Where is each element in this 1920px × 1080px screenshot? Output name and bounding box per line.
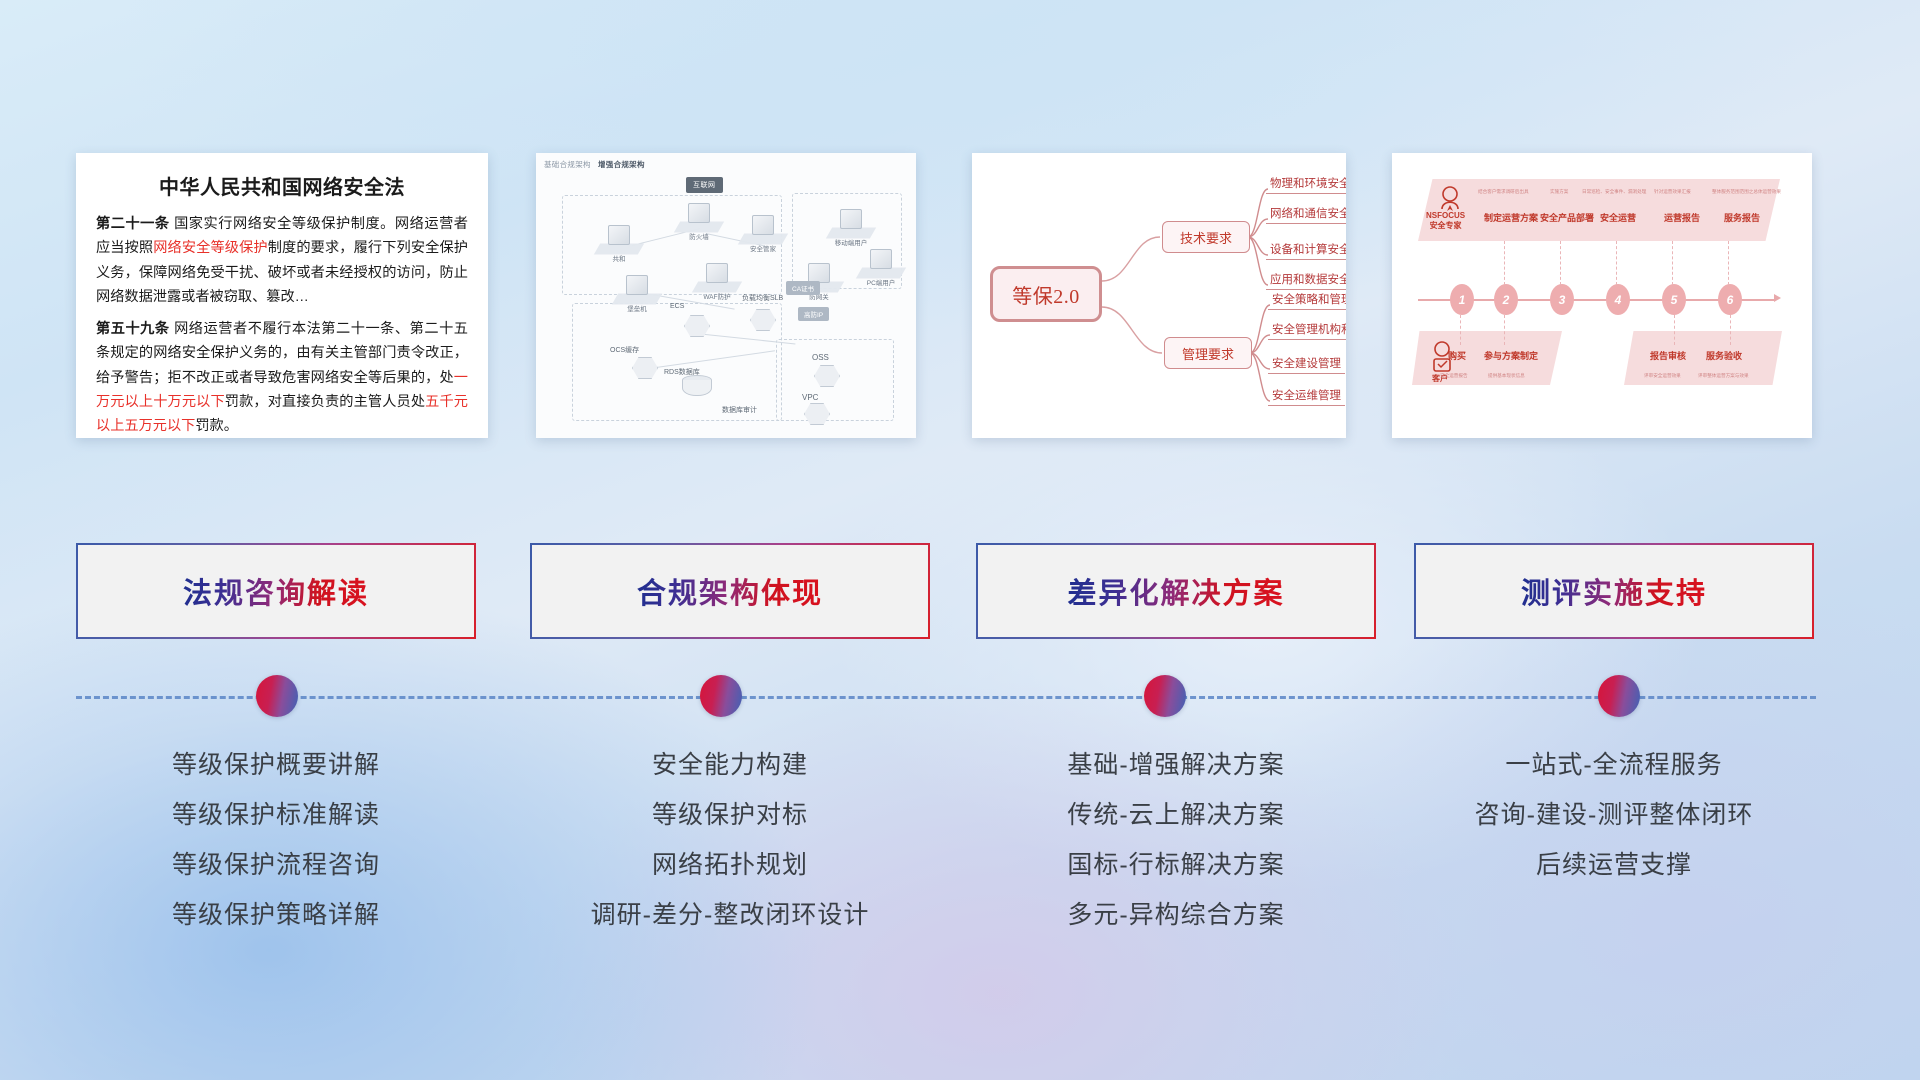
law-text: 罚款，对直接负责的主管人员处 (225, 394, 425, 410)
list-item: 安全能力构建 (530, 740, 930, 790)
mindmap-leaf: 网络和通信安全 (1266, 205, 1346, 224)
process-step-number: 4 (1606, 284, 1630, 315)
process-connector (1616, 241, 1617, 285)
law-article-number-2: 第五十九条 (96, 321, 170, 337)
architecture-node: WAF防护 (702, 263, 732, 289)
list-item: 调研-差分-整改闭环设计 (530, 890, 930, 940)
list-item: 传统-云上解决方案 (976, 790, 1376, 840)
list-item: 后续运营支撑 (1414, 840, 1814, 890)
law-article-number-1: 第二十一条 (96, 216, 170, 232)
mindmap-diagram: 等保2.0 技术要求 管理要求 物理和环境安全 网络和通信安全 设备和计算安全 … (972, 153, 1346, 438)
list-item: 等级保护策略详解 (76, 890, 476, 940)
timeline-connector (0, 675, 1920, 723)
process-top-main: 制定运营方案 (1484, 211, 1538, 224)
law-text-highlight: 网络安全等级保护 (153, 240, 268, 256)
architecture-diagram: 基础合规架构 增强合规架构 互联网 共和 防火墙 安全管家 堡垒机 WAF防护 … (536, 153, 916, 438)
process-bottom-sub: 评审整体运营方案与效果 (1698, 373, 1749, 379)
process-connector (1504, 241, 1505, 285)
law-card-body: 中华人民共和国网络安全法 第二十一条 国家实行网络安全等级保护制度。网络运营者应… (76, 153, 488, 438)
card-service-process[interactable]: NSFOCUS 安全专家 客户 结合客户需求调研后出具 制定运营方案 实施方案 … (1392, 153, 1812, 438)
process-top-sub: 整体服务范围范围之总体运营效果 (1712, 189, 1781, 195)
architecture-node-label: 安全管家 (739, 243, 787, 253)
card-mindmap-dengbao[interactable]: 等保2.0 技术要求 管理要求 物理和环境安全 网络和通信安全 设备和计算安全 … (972, 153, 1346, 438)
preview-cards-row: 中华人民共和国网络安全法 第二十一条 国家实行网络安全等级保护制度。网络运营者应… (0, 153, 1920, 441)
process-connector (1460, 315, 1461, 345)
architecture-node: 安全管家 (748, 215, 778, 241)
process-bottom-sub: 评审安全运营效果 (1644, 373, 1681, 379)
process-bottom-main: 服务验收 (1706, 349, 1742, 362)
architecture-node-label: 共和 (595, 253, 643, 263)
process-top-sub: 实施方案 (1550, 189, 1568, 195)
architecture-node-label: VPC (802, 393, 818, 402)
architecture-node-label: OCS缓存 (610, 345, 639, 355)
process-connector (1730, 315, 1731, 345)
process-connector (1728, 241, 1729, 285)
mindmap-leaf: 物理和环境安全 (1266, 175, 1346, 194)
card-compliance-architecture[interactable]: 基础合规架构 增强合规架构 互联网 共和 防火墙 安全管家 堡垒机 WAF防护 … (536, 153, 916, 438)
mindmap-leaf: 安全建设管理 (1268, 355, 1345, 374)
mindmap-leaf: 安全管理机构和人员 (1268, 321, 1346, 340)
category-button-label: 合规架构体现 (637, 570, 823, 612)
architecture-node-label: 负载均衡SLB (742, 293, 783, 303)
architecture-node-label: 堡垒机 (613, 303, 661, 313)
process-top-main: 安全产品部署 (1540, 211, 1594, 224)
category-button-label: 测评实施支持 (1521, 570, 1707, 612)
process-top-main: 安全运营 (1600, 211, 1636, 224)
mindmap-branch-management: 管理要求 (1164, 337, 1252, 369)
process-bottom-sub: 安全运营报告 (1440, 373, 1468, 379)
list-item: 等级保护标准解读 (76, 790, 476, 840)
law-text: 罚款。 (195, 418, 238, 434)
list-item: 网络拓扑规划 (530, 840, 930, 890)
process-bottom-sub: 提供基本现状信息 (1488, 373, 1525, 379)
detail-list-assessment-support: 一站式-全流程服务 咨询-建设-测评整体闭环 后续运营支撑 (1414, 740, 1814, 890)
timeline-dot-3 (1144, 675, 1186, 717)
process-step-number: 3 (1550, 284, 1574, 315)
process-connector (1504, 315, 1505, 345)
process-step-number: 2 (1494, 284, 1518, 315)
architecture-pill-ca: CA证书 (786, 281, 820, 295)
law-title: 中华人民共和国网络安全法 (96, 171, 468, 200)
architecture-node-label: WAF防护 (693, 291, 741, 301)
architecture-node-label: RDS数据库 (664, 367, 700, 377)
architecture-node: 堡垒机 (622, 275, 652, 301)
architecture-node-label: 数据库审计 (722, 405, 757, 415)
list-item: 多元-异构综合方案 (976, 890, 1376, 940)
category-buttons-row: 法规咨询解读 合规架构体现 差异化解决方案 测评实施支持 (0, 543, 1920, 639)
mindmap-leaf: 安全运维管理 (1268, 387, 1345, 406)
architecture-node: 移动端用户 (836, 209, 866, 235)
process-connector (1674, 315, 1675, 345)
architecture-node: 共和 (604, 225, 634, 251)
law-paragraph-1: 第二十一条 国家实行网络安全等级保护制度。网络运营者应当按照网络安全等级保护制度… (96, 212, 468, 310)
list-item: 等级保护概要讲解 (76, 740, 476, 790)
architecture-caption-bold: 增强合规架构 (598, 160, 645, 169)
process-axis-arrow-icon (1774, 294, 1781, 302)
process-top-sub: 针对运营效果汇报 (1654, 189, 1691, 195)
timeline-dot-4 (1598, 675, 1640, 717)
card-cybersecurity-law[interactable]: 中华人民共和国网络安全法 第二十一条 国家实行网络安全等级保护制度。网络运营者应… (76, 153, 488, 438)
architecture-node-label: OSS (812, 353, 829, 362)
timeline-dot-1 (256, 675, 298, 717)
category-button-differentiated-solution[interactable]: 差异化解决方案 (976, 543, 1376, 639)
architecture-node: PC端用户 (866, 249, 896, 275)
category-button-label: 差异化解决方案 (1067, 570, 1284, 612)
category-button-compliance-architecture[interactable]: 合规架构体现 (530, 543, 930, 639)
mindmap-leaf: 设备和计算安全 (1266, 241, 1346, 260)
process-bottom-main: 参与方案制定 (1484, 349, 1538, 362)
mindmap-leaf: 应用和数据安全 (1266, 271, 1346, 290)
process-top-sub: 日常巡检、安全事件、漏洞处理 (1582, 189, 1646, 195)
process-step-number: 6 (1718, 284, 1742, 315)
process-top-main: 服务报告 (1724, 211, 1760, 224)
list-item: 咨询-建设-测评整体闭环 (1414, 790, 1814, 840)
architecture-node-label: PC端用户 (857, 277, 905, 287)
process-step-number: 5 (1662, 284, 1686, 315)
architecture-node: 防火墙 (684, 203, 714, 229)
detail-list-regulation-consulting: 等级保护概要讲解 等级保护标准解读 等级保护流程咨询 等级保护策略详解 (76, 740, 476, 940)
process-connector (1560, 241, 1561, 285)
list-item: 等级保护对标 (530, 790, 930, 840)
process-step-number: 1 (1450, 284, 1474, 315)
timeline-dot-2 (700, 675, 742, 717)
process-actor-expert: NSFOCUS 安全专家 (1426, 211, 1465, 231)
mindmap-branch-technical: 技术要求 (1162, 221, 1250, 253)
detail-list-compliance-architecture: 安全能力构建 等级保护对标 网络拓扑规划 调研-差分-整改闭环设计 (530, 740, 930, 940)
process-diagram: NSFOCUS 安全专家 客户 结合客户需求调研后出具 制定运营方案 实施方案 … (1392, 153, 1812, 438)
list-item: 一站式-全流程服务 (1414, 740, 1814, 790)
process-top-main: 运营报告 (1664, 211, 1700, 224)
list-item: 国标-行标解决方案 (976, 840, 1376, 890)
category-button-assessment-support[interactable]: 测评实施支持 (1414, 543, 1814, 639)
architecture-tag: 互联网 (686, 177, 723, 193)
list-item: 等级保护流程咨询 (76, 840, 476, 890)
architecture-node-label: 防火墙 (675, 231, 723, 241)
list-item: 基础-增强解决方案 (976, 740, 1376, 790)
process-bottom-main: 购买 (1448, 349, 1466, 362)
process-connector (1672, 241, 1673, 285)
architecture-caption: 基础合规架构 增强合规架构 (544, 159, 645, 170)
architecture-pill-ddos: 高防IP (798, 307, 829, 321)
architecture-node-label: ECS (670, 303, 684, 310)
process-bottom-main: 报告审核 (1650, 349, 1686, 362)
detail-lists-row: 等级保护概要讲解 等级保护标准解读 等级保护流程咨询 等级保护策略详解 安全能力… (0, 740, 1920, 980)
detail-list-differentiated-solution: 基础-增强解决方案 传统-云上解决方案 国标-行标解决方案 多元-异构综合方案 (976, 740, 1376, 940)
architecture-database-node (682, 375, 712, 399)
category-button-label: 法规咨询解读 (183, 570, 369, 612)
law-paragraph-2: 第五十九条 网络运营者不履行本法第二十一条、第二十五条规定的网络安全保护义务的，… (96, 317, 468, 438)
architecture-node-label: 移动端用户 (827, 237, 875, 247)
timeline-dashed-line (76, 696, 1816, 699)
architecture-caption-plain: 基础合规架构 (544, 160, 591, 169)
process-top-sub: 结合客户需求调研后出具 (1478, 189, 1529, 195)
category-button-regulation-consulting[interactable]: 法规咨询解读 (76, 543, 476, 639)
mindmap-leaf: 安全策略和管理制度 (1268, 291, 1346, 310)
mindmap-root-node: 等保2.0 (990, 266, 1102, 322)
